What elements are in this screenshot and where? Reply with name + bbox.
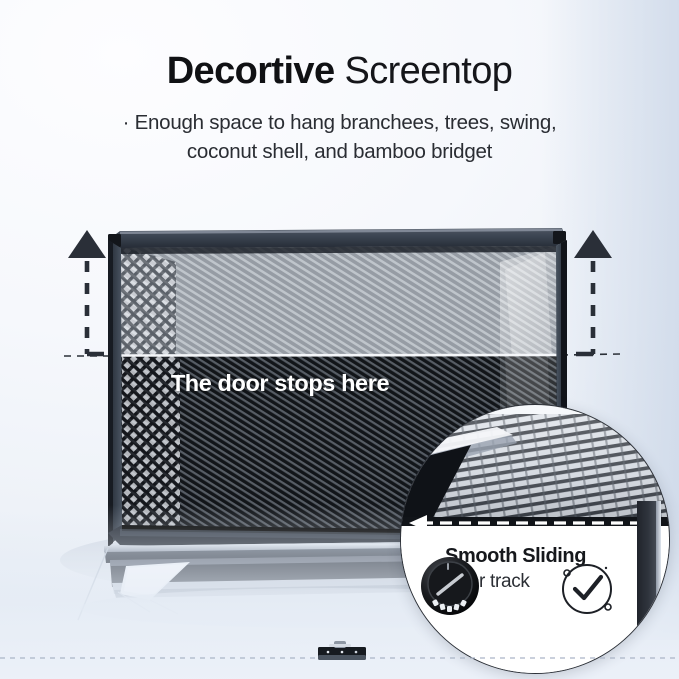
bullet-text-1: Enough space to hang branchees, trees, s… <box>135 111 557 134</box>
up-arrow-left <box>64 228 110 368</box>
rotary-knob-icon <box>417 553 483 619</box>
bullet-line-2: coconut shell, and bamboo bridget <box>0 137 679 166</box>
detail-inset-circle: Smooth Sliding Door track <box>400 404 670 674</box>
bullet-marker: · <box>123 111 130 134</box>
page-title: Decortive Screentop <box>0 50 679 94</box>
bullet-line-1: · Enough space to hang branchees, trees,… <box>0 108 679 137</box>
check-circle-icon <box>551 551 623 623</box>
door-roller-part <box>318 638 366 662</box>
title-bold: Decortive <box>167 50 335 92</box>
title-light: Screentop <box>344 50 512 92</box>
product-infographic: Decortive Screentop · Enough space to ha… <box>0 0 679 679</box>
up-arrow-right <box>570 228 616 368</box>
feature-bullet: · Enough space to hang branchees, trees,… <box>0 108 679 166</box>
header-block: Decortive Screentop · Enough space to ha… <box>0 50 679 166</box>
